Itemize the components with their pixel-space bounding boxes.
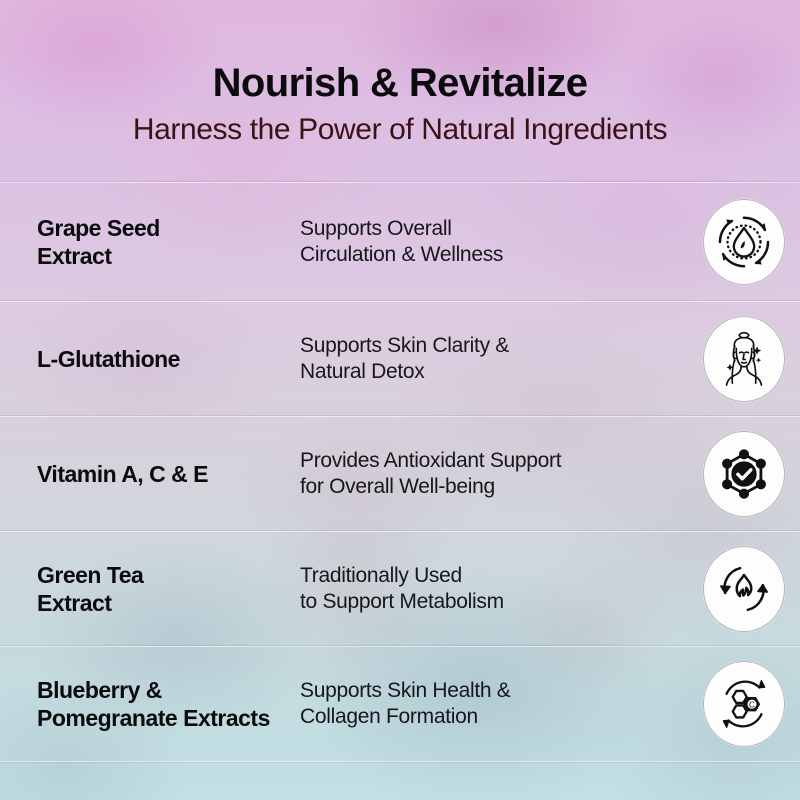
ingredient-name: Green Tea Extract: [0, 561, 300, 617]
ingredient-icon-cell: [688, 316, 800, 402]
ingredient-benefit-line-2: Collagen Formation: [300, 704, 680, 730]
ingredient-benefit-line-2: to Support Metabolism: [300, 589, 680, 615]
ingredient-row-l-glutathione: L-Glutathione Supports Skin Clarity & Na…: [0, 301, 800, 416]
ingredient-name-line-1: Grape Seed: [37, 214, 300, 242]
ingredient-name: L-Glutathione: [0, 345, 300, 373]
svg-text:C: C: [749, 700, 755, 709]
ingredient-row-vitamin-a-c-e: Vitamin A, C & E Provides Antioxidant Su…: [0, 416, 800, 531]
ingredient-name: Grape Seed Extract: [0, 214, 300, 270]
header: Nourish & Revitalize Harness the Power o…: [0, 0, 800, 146]
ingredient-benefit: Traditionally Used to Support Metabolism: [300, 563, 688, 615]
ingredient-benefit-line-2: for Overall Well-being: [300, 474, 680, 500]
ingredient-benefit-line-1: Supports Overall: [300, 216, 680, 242]
ingredient-benefit-line-1: Provides Antioxidant Support: [300, 448, 680, 474]
droplet-circulation-icon: [703, 199, 785, 285]
ingredient-name-line-1: Green Tea: [37, 561, 300, 589]
ingredient-benefit-line-2: Natural Detox: [300, 359, 680, 385]
ingredient-benefit-line-1: Traditionally Used: [300, 563, 680, 589]
ingredient-benefit: Supports Skin Health & Collagen Formatio…: [300, 678, 688, 730]
ingredient-row-grape-seed-extract: Grape Seed Extract Supports Overall Circ…: [0, 182, 800, 301]
woman-face-glow-icon: [703, 316, 785, 402]
ingredient-benefit: Provides Antioxidant Support for Overall…: [300, 448, 688, 500]
ingredient-benefit-line-1: Supports Skin Health &: [300, 678, 680, 704]
ingredient-icon-cell: [688, 546, 800, 632]
ingredient-benefit: Supports Skin Clarity & Natural Detox: [300, 333, 688, 385]
ingredient-icon-cell: C: [688, 661, 800, 747]
ingredient-name-line-2: Pomegranate Extracts: [37, 704, 300, 732]
ingredient-name-line-1: Vitamin A, C & E: [37, 460, 300, 488]
ingredient-icon-cell: [688, 431, 800, 517]
ingredient-name: Vitamin A, C & E: [0, 460, 300, 488]
page-title: Nourish & Revitalize: [0, 62, 800, 104]
ingredient-list: Grape Seed Extract Supports Overall Circ…: [0, 182, 800, 762]
collagen-hexagon-icon: C: [703, 661, 785, 747]
ingredient-benefit: Supports Overall Circulation & Wellness: [300, 216, 688, 268]
ingredient-name-line-2: Extract: [37, 242, 300, 270]
ingredient-name-line-2: Extract: [37, 589, 300, 617]
ingredient-row-green-tea-extract: Green Tea Extract Traditionally Used to …: [0, 531, 800, 646]
antioxidant-check-molecule-icon: [703, 431, 785, 517]
page-subtitle: Harness the Power of Natural Ingredients: [0, 113, 800, 146]
ingredient-benefits-infographic: Nourish & Revitalize Harness the Power o…: [0, 0, 800, 800]
ingredient-icon-cell: [688, 199, 800, 285]
ingredient-name-line-1: L-Glutathione: [37, 345, 300, 373]
ingredient-name-line-1: Blueberry &: [37, 676, 300, 704]
ingredient-benefit-line-2: Circulation & Wellness: [300, 242, 680, 268]
ingredient-benefit-line-1: Supports Skin Clarity &: [300, 333, 680, 359]
ingredient-name: Blueberry & Pomegranate Extracts: [0, 676, 300, 732]
ingredient-row-blueberry-pomegranate-extracts: Blueberry & Pomegranate Extracts Support…: [0, 646, 800, 762]
flame-metabolism-cycle-icon: [703, 546, 785, 632]
